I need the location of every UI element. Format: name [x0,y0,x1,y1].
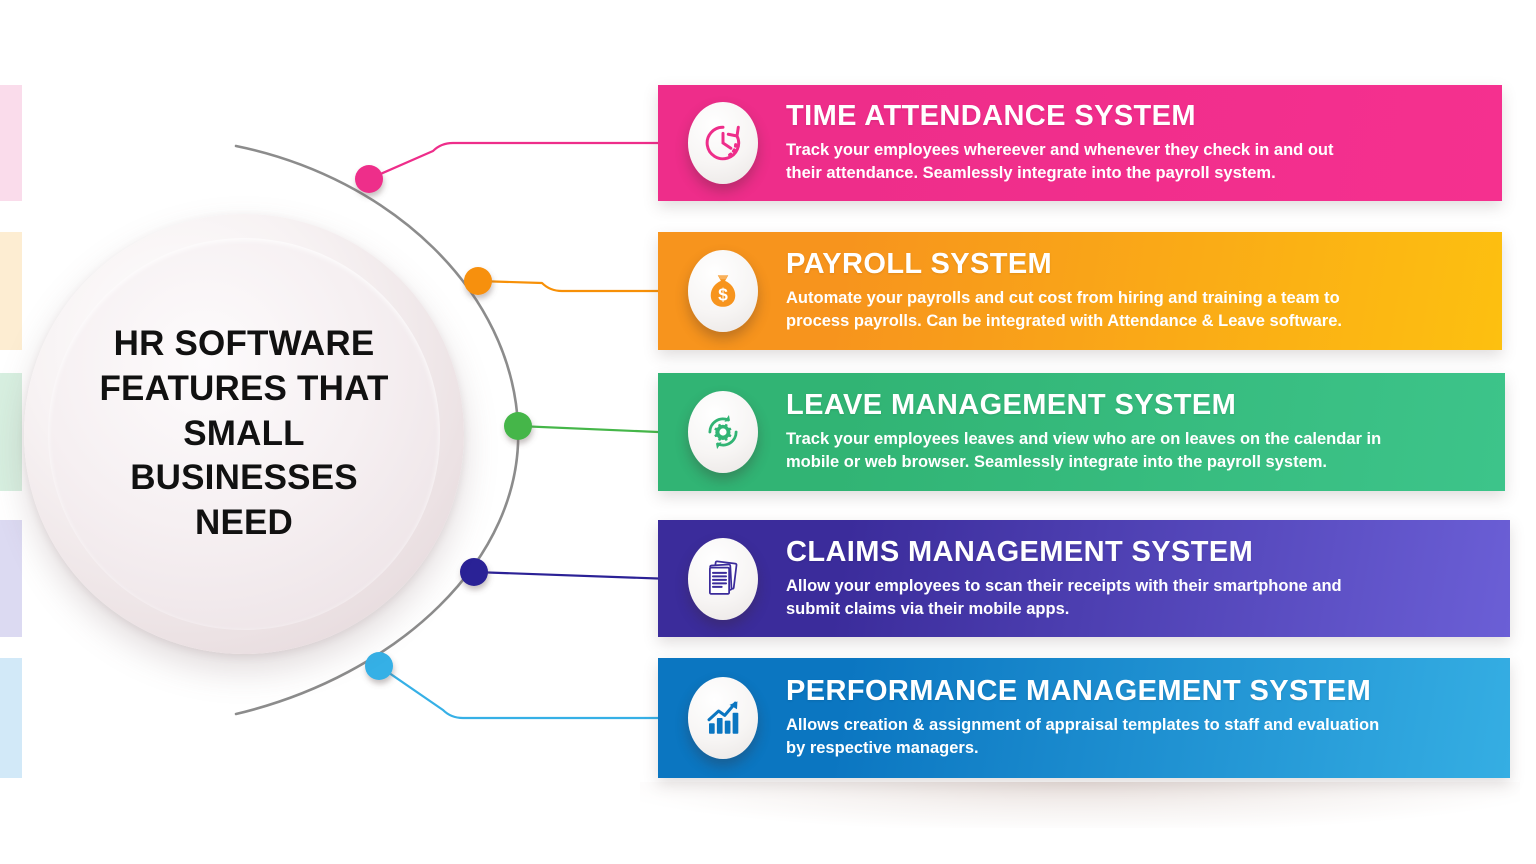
infographic-canvas: HR SOFTWARE FEATURES THAT SMALL BUSINESS… [0,0,1536,864]
panel-text-block: TIME ATTENDANCE SYSTEMTrack your employe… [786,101,1359,185]
panel-heading: CLAIMS MANAGEMENT SYSTEM [786,537,1342,568]
panel-text-block: PERFORMANCE MANAGEMENT SYSTEMAllows crea… [786,676,1405,760]
edge-strip-purple [0,520,22,637]
panel-heading: TIME ATTENDANCE SYSTEM [786,101,1333,132]
hub-inner-disc: HR SOFTWARE FEATURES THAT SMALL BUSINESS… [48,238,440,630]
edge-strip-green [0,373,22,491]
money-bag-icon: $ [688,250,758,332]
leader-line-3 [518,426,658,432]
svg-text:$: $ [718,285,728,305]
page-title-line-1: HR SOFTWARE [74,322,414,367]
page-title-line-4: NEED [74,501,414,546]
edge-strip-orange [0,232,22,350]
feature-panel[interactable]: $ PAYROLL SYSTEMAutomate your payrolls a… [658,232,1502,350]
documents-stack-icon [688,538,758,620]
panel-heading: PAYROLL SYSTEM [786,249,1342,280]
page-title-line-2: FEATURES THAT [74,367,414,412]
growth-chart-icon [688,677,758,759]
node-time-attendance[interactable] [355,165,383,193]
panel-description: Track your employees whereever and whene… [786,139,1333,185]
panel-heading: PERFORMANCE MANAGEMENT SYSTEM [786,676,1379,707]
page-title: HR SOFTWARE FEATURES THAT SMALL BUSINESS… [48,322,440,546]
leader-line-4 [474,572,658,579]
panel-description: Automate your payrolls and cut cost from… [786,287,1342,333]
stack-drop-shadow [640,782,1520,828]
page-title-line-3: SMALL BUSINESSES [74,412,414,502]
edge-strip-pink [0,85,22,201]
panel-description: Track your employees leaves and view who… [786,428,1381,474]
leader-line-1 [369,143,658,179]
node-leave[interactable] [504,412,532,440]
panel-text-block: CLAIMS MANAGEMENT SYSTEMAllow your emplo… [786,537,1368,621]
feature-panel[interactable]: LEAVE MANAGEMENT SYSTEMTrack your employ… [658,373,1505,491]
panel-description: Allows creation & assignment of appraisa… [786,714,1379,760]
panel-description: Allow your employees to scan their recei… [786,575,1342,621]
leader-line-5 [379,666,658,718]
feature-panel[interactable]: TIME ATTENDANCE SYSTEMTrack your employe… [658,85,1502,201]
panel-heading: LEAVE MANAGEMENT SYSTEM [786,390,1381,421]
panel-text-block: LEAVE MANAGEMENT SYSTEMTrack your employ… [786,390,1407,474]
node-claims[interactable] [460,558,488,586]
feature-panel[interactable]: PERFORMANCE MANAGEMENT SYSTEMAllows crea… [658,658,1510,778]
gear-refresh-icon [688,391,758,473]
node-performance[interactable] [365,652,393,680]
clock-arrow-icon [688,102,758,184]
center-hub: HR SOFTWARE FEATURES THAT SMALL BUSINESS… [24,214,464,654]
panel-text-block: PAYROLL SYSTEMAutomate your payrolls and… [786,249,1368,333]
leader-line-2 [478,281,658,291]
edge-strip-blue [0,658,22,778]
node-payroll[interactable] [464,267,492,295]
feature-panel[interactable]: CLAIMS MANAGEMENT SYSTEMAllow your emplo… [658,520,1510,637]
